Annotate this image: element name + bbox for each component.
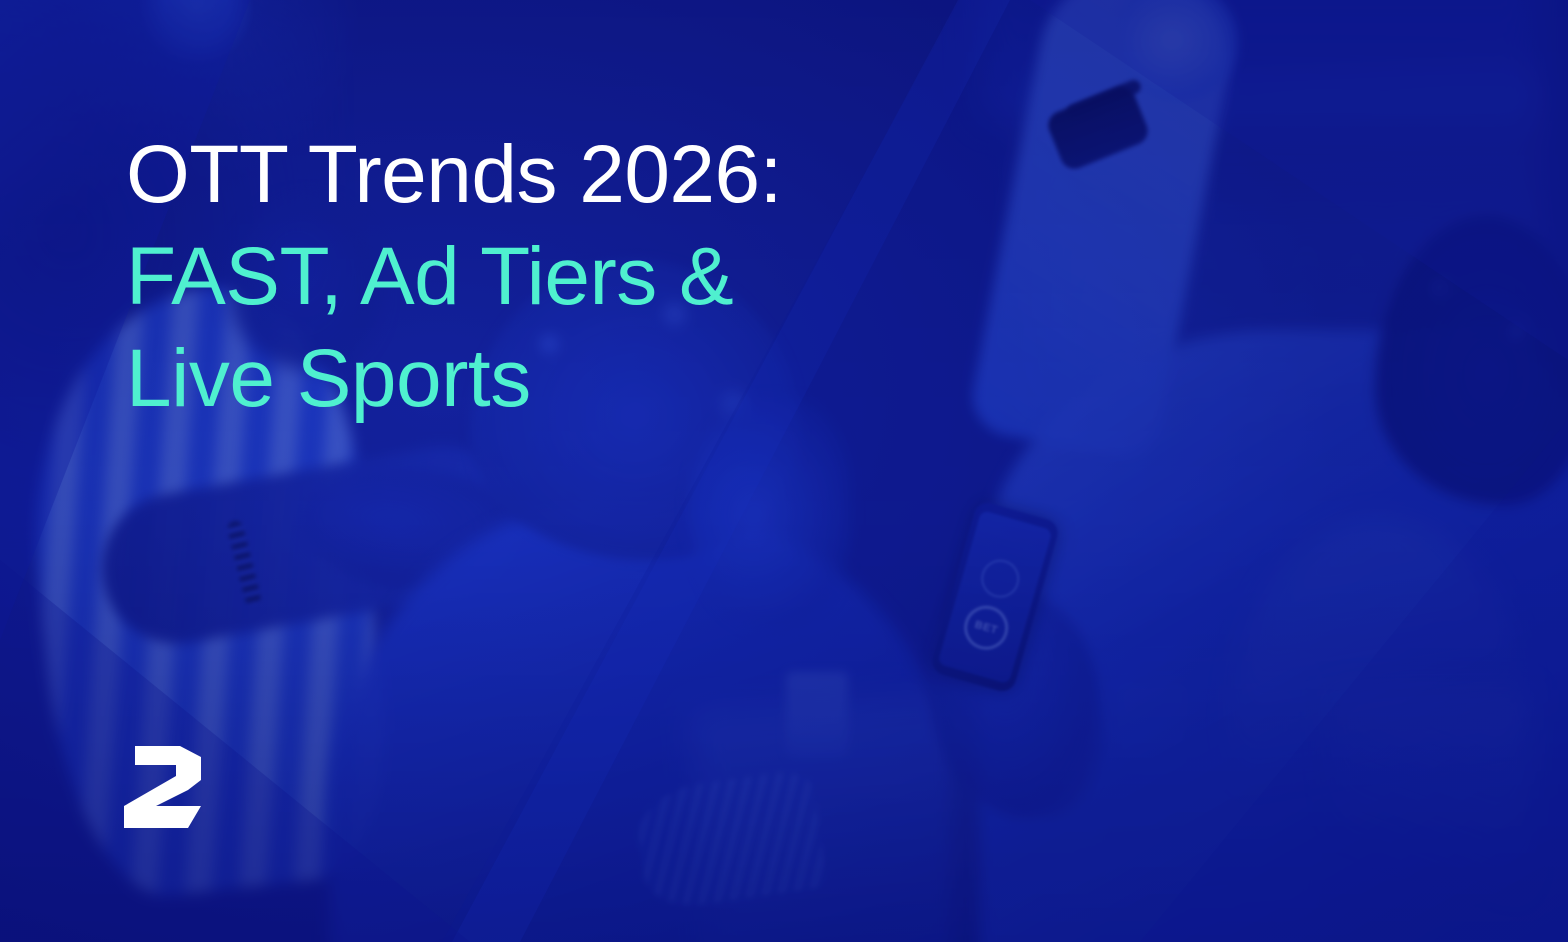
headline-line-1: OTT Trends 2026: — [126, 124, 782, 226]
headline-line-3: Live Sports — [126, 328, 782, 430]
headline-line-2: FAST, Ad Tiers & — [126, 226, 782, 328]
ott-trends-hero-banner: BET OTT Trends 2026: FAST, Ad Tiers & Li… — [0, 0, 1568, 942]
numeral-two-logo — [122, 744, 212, 830]
page-title: OTT Trends 2026: FAST, Ad Tiers & Live S… — [126, 124, 782, 430]
